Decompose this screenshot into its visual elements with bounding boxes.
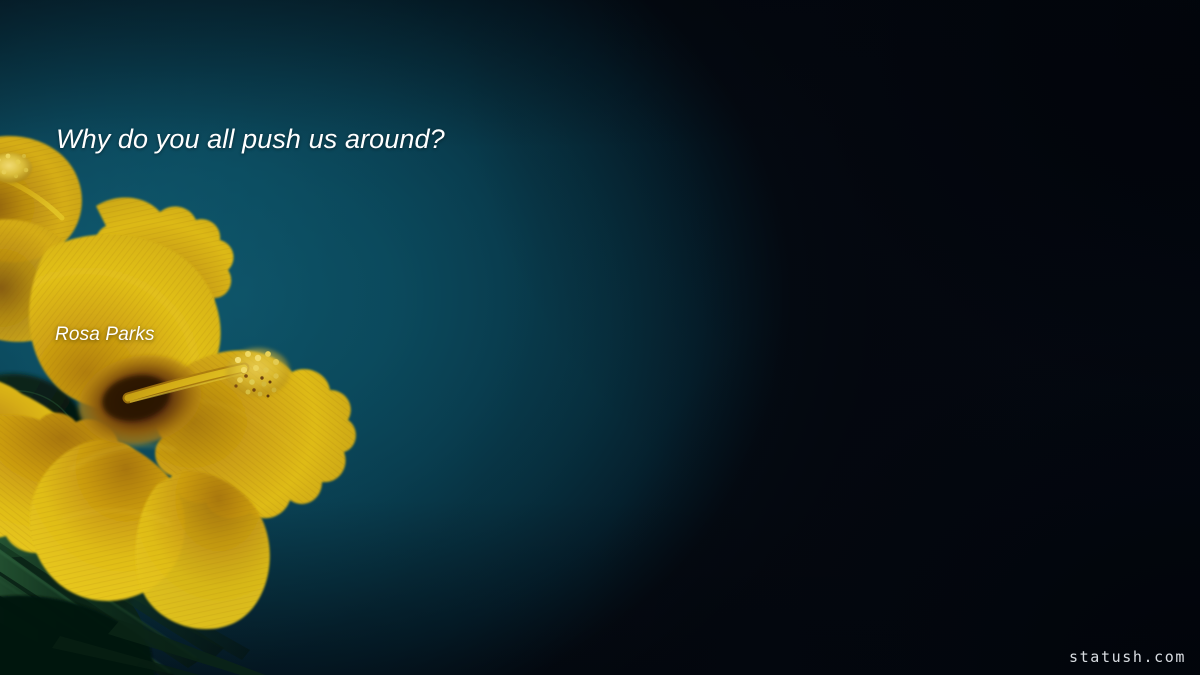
site-watermark: statush.com (1069, 648, 1186, 666)
quote-graphic-canvas: Why do you all push us around? Rosa Park… (0, 0, 1200, 675)
quote-author: Rosa Parks (55, 323, 155, 347)
quote-text: Why do you all push us around? (56, 122, 1106, 156)
